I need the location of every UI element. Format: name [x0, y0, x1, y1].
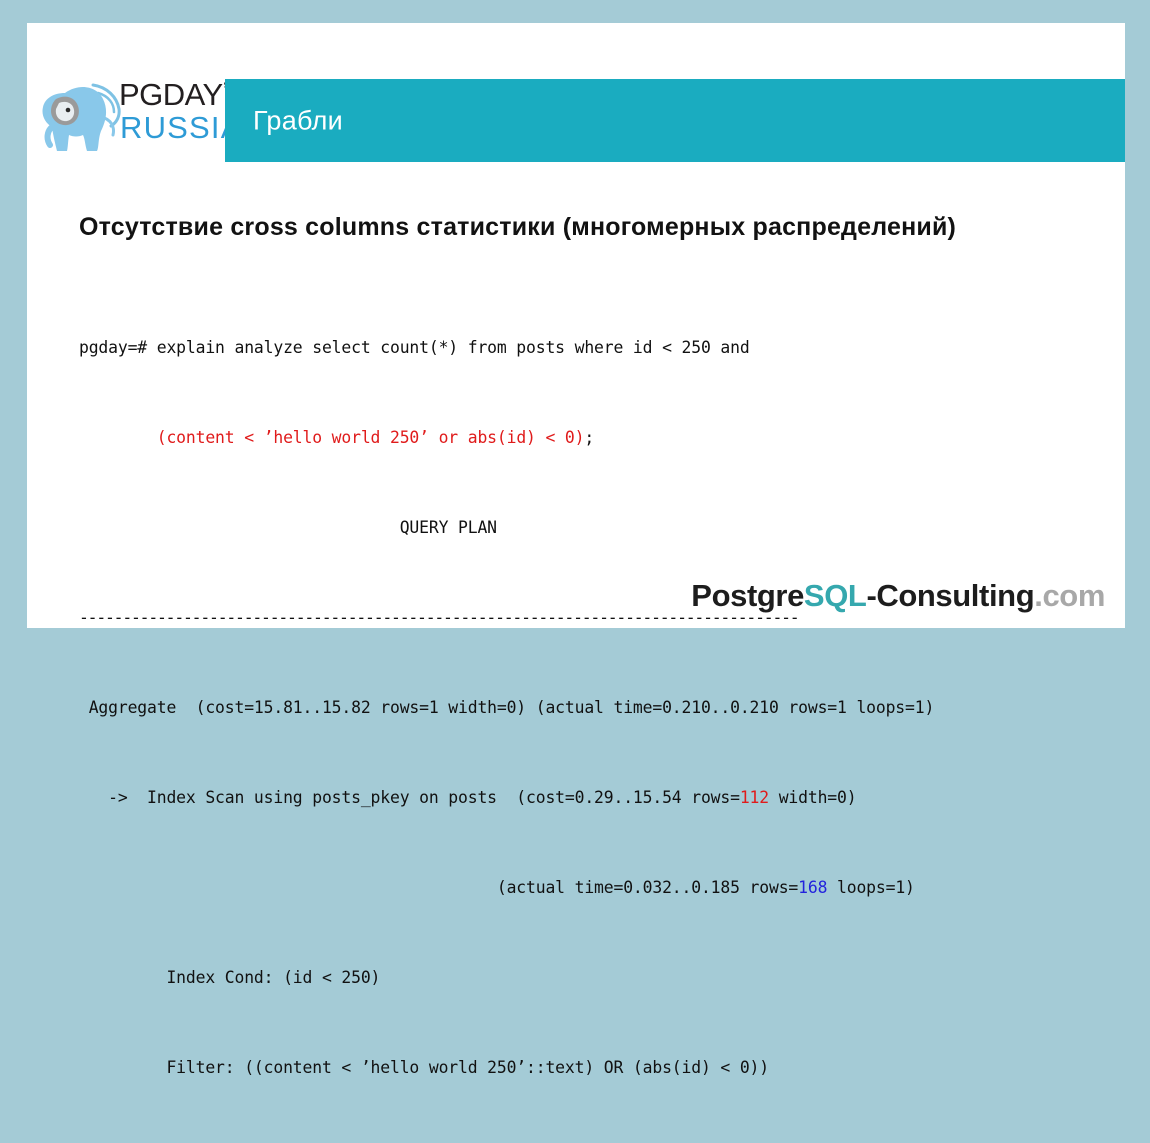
code-line-index-scan: -> Index Scan using posts_pkey on posts … [79, 783, 1109, 813]
brand-part-consulting: -Consulting [866, 578, 1034, 613]
logo-pgday-text: PGDAY [119, 77, 223, 112]
code-estimated-rows: 112 [740, 788, 769, 807]
brand-part-tld: .com [1034, 578, 1105, 613]
code-actual-text: (actual time=0.032..0.185 rows= [79, 878, 798, 897]
pgday-russia-logo: PGDAY’15 RUSSIA [35, 73, 225, 163]
code-actual-tail: loops=1) [827, 878, 914, 897]
code-predicate-highlight: (content < ’hello world 250’ or abs(id) … [157, 428, 585, 447]
code-index-scan-text: -> Index Scan using posts_pkey on posts … [79, 788, 740, 807]
code-line-index-cond: Index Cond: (id < 250) [79, 963, 1109, 993]
code-line-aggregate: Aggregate (cost=15.81..15.82 rows=1 widt… [79, 693, 1109, 723]
code-indent [79, 428, 157, 447]
code-line-actual: (actual time=0.032..0.185 rows=168 loops… [79, 873, 1109, 903]
code-line-predicate: (content < ’hello world 250’ or abs(id) … [79, 423, 1109, 453]
header-banner: Грабли [225, 79, 1125, 162]
brand-part-sql: SQL [804, 578, 867, 613]
slide-header: PGDAY’15 RUSSIA Грабли [27, 23, 1125, 173]
code-actual-rows: 168 [798, 878, 827, 897]
code-index-scan-tail: width=0) [769, 788, 856, 807]
logo-wordmark: PGDAY’15 RUSSIA [119, 77, 229, 157]
code-line-query: pgday=# explain analyze select count(*) … [79, 333, 1109, 363]
psql-output-block: pgday=# explain analyze select count(*) … [79, 273, 1109, 1143]
elephant-icon [35, 77, 125, 159]
brand-part-postgre: Postgre [691, 578, 804, 613]
slide-canvas: PGDAY’15 RUSSIA Грабли Отсутствие cross … [27, 23, 1125, 628]
postgresql-consulting-logo: PostgreSQL-Consulting.com [691, 578, 1105, 614]
code-line-queryplan-header: QUERY PLAN [79, 513, 1109, 543]
code-semicolon: ; [584, 428, 594, 447]
slide-title: Грабли [253, 105, 343, 136]
code-line-filter: Filter: ((content < ’hello world 250’::t… [79, 1053, 1109, 1083]
section-subtitle: Отсутствие cross columns статистики (мно… [79, 213, 956, 242]
